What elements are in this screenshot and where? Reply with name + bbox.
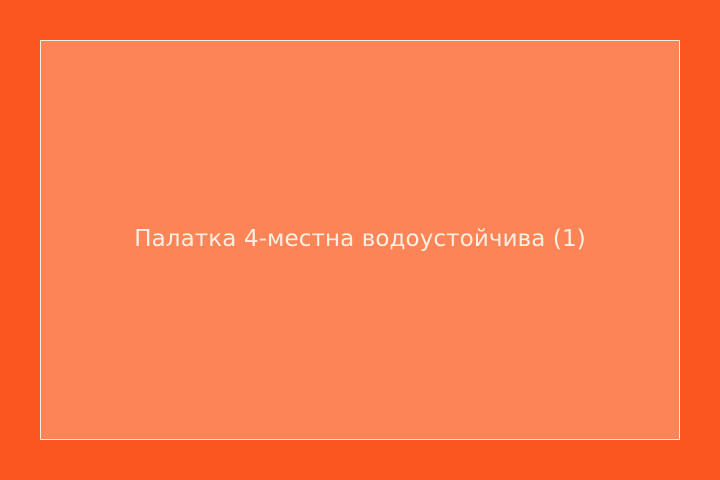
placeholder-caption: Палатка 4-местна водоустойчива (1) [41, 226, 679, 254]
placeholder-canvas: Палатка 4-местна водоустойчива (1) [0, 0, 720, 480]
placeholder-image-frame: Палатка 4-местна водоустойчива (1) [40, 40, 680, 440]
